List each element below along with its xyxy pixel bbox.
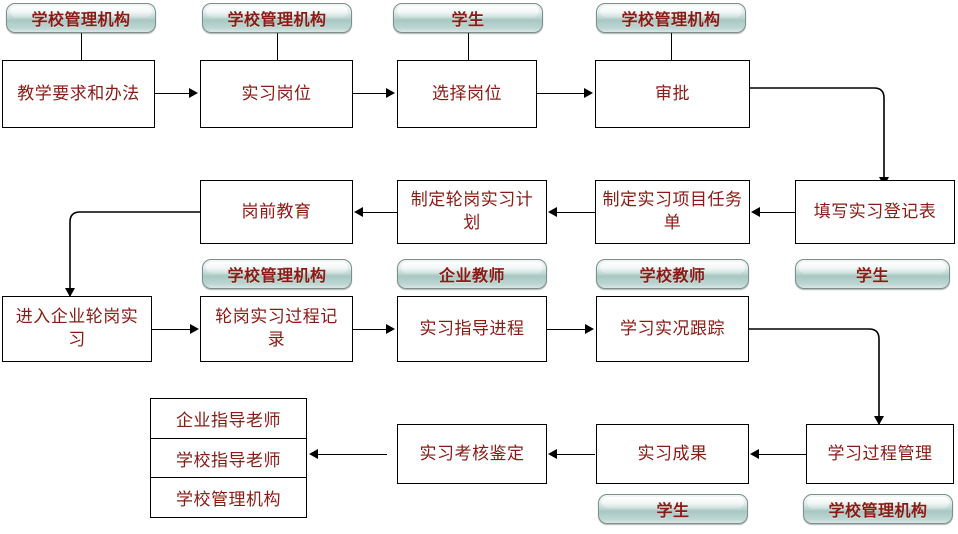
- step-box-approval[interactable]: 审批: [595, 60, 750, 128]
- role-pill-enterprise-teacher: 企业教师: [397, 259, 547, 289]
- connector-s04-s05: [750, 79, 910, 184]
- step-box-select-post[interactable]: 选择岗位: [397, 60, 537, 128]
- step-box-rotation-record[interactable]: 轮岗实习过程记录: [200, 296, 353, 362]
- arrow-s07-s08: [354, 207, 363, 217]
- connector-s08-s09: [68, 203, 208, 303]
- flowchart-canvas: 学校管理机构 学校管理机构 学生 学校管理机构 教学要求和办法 实习岗位 选择岗…: [0, 0, 958, 534]
- step-box-guidance-progress[interactable]: 实习指导进程: [397, 296, 547, 362]
- role-pill-school-admin-1: 学校管理机构: [6, 3, 156, 33]
- evaluator-row-school-mentor: 学校指导老师: [151, 438, 306, 478]
- arrow-s01-s02: [189, 88, 198, 98]
- arrow-s03-s04: [584, 88, 593, 98]
- step-box-pre-job-training[interactable]: 岗前教育: [200, 180, 353, 244]
- evaluator-row-enterprise-mentor: 企业指导老师: [151, 399, 306, 438]
- connector-s07-s08: [363, 212, 397, 213]
- connector-s05-s06: [760, 212, 795, 213]
- connector-s03-s04: [537, 93, 584, 94]
- role-label: 企业教师: [439, 262, 505, 286]
- connector-s09-s10: [152, 329, 190, 330]
- step-box-process-management[interactable]: 学习过程管理: [806, 424, 954, 484]
- role-pill-school-admin-3: 学校管理机构: [596, 3, 746, 33]
- arrow-s09-s10: [190, 324, 199, 334]
- role-pill-student-2: 学生: [795, 259, 950, 289]
- role-pill-student-3: 学生: [598, 494, 748, 524]
- connector-s13-s14: [759, 454, 806, 455]
- connector-s01-s02: [155, 93, 189, 94]
- role-label: 学生: [656, 497, 689, 521]
- evaluator-stack-box[interactable]: 企业指导老师 学校指导老师 学校管理机构: [150, 398, 307, 518]
- pill-stem-2: [277, 33, 278, 60]
- role-label: 学校管理机构: [31, 6, 130, 30]
- role-pill-school-admin-5: 学校管理机构: [803, 494, 953, 524]
- connector-s10-s11: [353, 329, 386, 330]
- role-label: 学校教师: [639, 262, 705, 286]
- arrow-s06-s07: [548, 207, 557, 217]
- role-label: 学校管理机构: [621, 6, 720, 30]
- arrow-s11-s12: [585, 324, 594, 334]
- step-box-internship-post[interactable]: 实习岗位: [200, 60, 353, 128]
- step-box-project-task-sheet[interactable]: 制定实习项目任务单: [595, 180, 750, 244]
- step-box-assessment[interactable]: 实习考核鉴定: [397, 424, 547, 484]
- role-label: 学校管理机构: [828, 497, 927, 521]
- role-pill-school-admin-4: 学校管理机构: [202, 259, 352, 289]
- pill-stem-3: [468, 33, 469, 60]
- role-pill-school-admin-2: 学校管理机构: [202, 3, 352, 33]
- connector-s11-s12: [547, 329, 585, 330]
- arrow-s14-s15: [548, 449, 557, 459]
- role-label: 学校管理机构: [227, 262, 326, 286]
- connector-s15-evaluators: [318, 454, 387, 455]
- role-pill-school-teacher: 学校教师: [596, 259, 749, 289]
- arrow-s02-s03: [386, 88, 395, 98]
- step-box-learning-tracking[interactable]: 学习实况跟踪: [596, 296, 749, 362]
- role-pill-student-1: 学生: [393, 3, 543, 33]
- arrow-s10-s11: [386, 324, 395, 334]
- step-box-registration-form[interactable]: 填写实习登记表: [795, 180, 955, 244]
- evaluator-row-school-admin: 学校管理机构: [151, 477, 306, 517]
- connector-s12-s13: [749, 320, 909, 430]
- step-box-internship-result[interactable]: 实习成果: [596, 424, 749, 484]
- role-label: 学生: [451, 6, 484, 30]
- role-label: 学校管理机构: [227, 6, 326, 30]
- role-label: 学生: [856, 262, 889, 286]
- arrow-s05-s06: [751, 207, 760, 217]
- pill-stem-1: [81, 33, 82, 60]
- step-box-teaching-requirements[interactable]: 教学要求和办法: [2, 60, 155, 128]
- pill-stem-4: [671, 33, 672, 60]
- connector-s06-s07: [557, 212, 595, 213]
- arrow-s15-evaluators: [309, 449, 318, 459]
- connector-s02-s03: [353, 93, 386, 94]
- connector-s14-s15: [557, 454, 595, 455]
- step-box-rotation-plan[interactable]: 制定轮岗实习计划: [397, 180, 547, 244]
- step-box-enter-rotation[interactable]: 进入企业轮岗实习: [2, 296, 152, 362]
- arrow-s13-s14: [750, 449, 759, 459]
